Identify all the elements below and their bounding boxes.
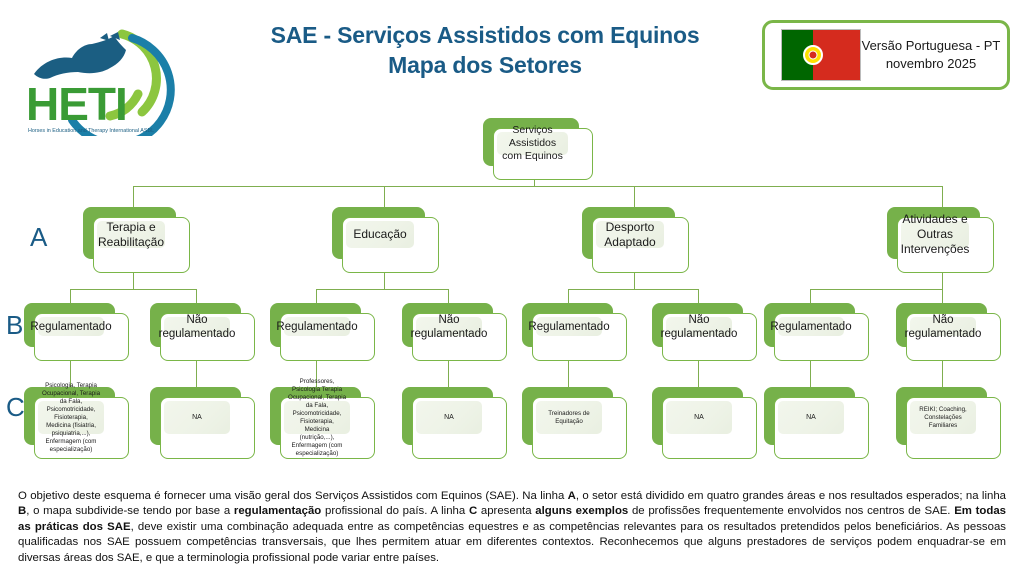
node-card: Terapia e Reabilitação (93, 217, 190, 273)
connector-b-drop-4b (942, 289, 943, 303)
node-label: Não regulamentado (666, 317, 732, 336)
node-card: Professores, Psicologia Terapia Ocupacio… (280, 397, 375, 459)
connector-a-drop-3 (634, 186, 635, 208)
version-badge: Versão Portuguesa - PT novembro 2025 (762, 20, 1010, 90)
node-card: NA (662, 397, 757, 459)
version-text: Versão Portuguesa - PT novembro 2025 (861, 37, 1007, 73)
svg-text:HETI: HETI (26, 78, 127, 130)
connector-c-drop-5 (568, 359, 569, 387)
node-a-atividades-outras-intervencoes[interactable]: Atividades e Outras Intervenções (887, 207, 994, 273)
connector-b-drop-1b (196, 289, 197, 303)
connector-b-stem-3 (634, 272, 635, 289)
version-line2: novembro 2025 (861, 55, 1001, 73)
portugal-flag-icon (781, 29, 861, 81)
node-card: REIKI; Coaching, Constelações Familiares (906, 397, 1001, 459)
connector-a-bus (133, 186, 943, 187)
connector-b-drop-4a (810, 289, 811, 303)
node-card: Atividades e Outras Intervenções (897, 217, 994, 273)
node-card: Não regulamentado (412, 313, 507, 361)
node-label: Regulamentado (284, 317, 350, 336)
node-card: Não regulamentado (906, 313, 1001, 361)
connector-c-drop-2 (196, 359, 197, 387)
node-c-na-3[interactable]: NA (652, 387, 757, 459)
node-label: REIKI; Coaching, Constelações Familiares (910, 401, 976, 434)
connector-b-stem-2 (384, 272, 385, 289)
node-card: NA (160, 397, 255, 459)
connector-b-drop-2a (316, 289, 317, 303)
node-c-na-4[interactable]: NA (764, 387, 869, 459)
footer-bold-regulamentacao: regulamentação (234, 505, 321, 517)
row-label-a: A (30, 222, 47, 253)
node-c-na-1[interactable]: NA (150, 387, 255, 459)
node-label: Terapia e Reabilitação (97, 221, 165, 248)
connector-c-drop-4 (448, 359, 449, 387)
node-card: Psicologia, Terapia Ocupacional, Terapia… (34, 397, 129, 459)
node-b-nao-regulamentado-4[interactable]: Não regulamentado (896, 303, 1001, 361)
slide-canvas: HETI Horses in Education and Therapy Int… (0, 0, 1024, 576)
node-label: NA (666, 401, 732, 434)
node-a-desporto-adaptado[interactable]: Desporto Adaptado (582, 207, 689, 273)
node-label: Regulamentado (536, 317, 602, 336)
node-b-regulamentado-4[interactable]: Regulamentado (764, 303, 869, 361)
node-c-treinadores-equitacao[interactable]: Treinadores de Equitação (522, 387, 627, 459)
node-label: Professores, Psicologia Terapia Ocupacio… (284, 401, 350, 434)
page-title-line1: SAE - Serviços Assistidos com Equinos (200, 20, 770, 50)
footer-seg-5: apresenta (477, 505, 535, 517)
node-c-na-2[interactable]: NA (402, 387, 507, 459)
node-card: Regulamentado (532, 313, 627, 361)
node-label: Serviços Assistidos com Equinos (497, 132, 568, 155)
node-a-terapia-reabilitacao[interactable]: Terapia e Reabilitação (83, 207, 190, 273)
footer-seg-4: profissional do país. A linha (321, 505, 469, 517)
node-label: NA (164, 401, 230, 434)
row-label-b: B (6, 310, 23, 341)
connector-a-drop-2 (384, 186, 385, 208)
connector-b-bus-4 (810, 289, 942, 290)
connector-b-drop-3a (568, 289, 569, 303)
row-label-c: C (6, 392, 25, 423)
node-card: Regulamentado (280, 313, 375, 361)
node-root[interactable]: Serviços Assistidos com Equinos (483, 118, 593, 180)
connector-b-drop-3b (698, 289, 699, 303)
node-card: Treinadores de Equitação (532, 397, 627, 459)
node-b-regulamentado-3[interactable]: Regulamentado (522, 303, 627, 361)
node-c-profissoes-2[interactable]: Professores, Psicologia Terapia Ocupacio… (270, 387, 375, 459)
node-card: NA (774, 397, 869, 459)
connector-b-bus-1 (70, 289, 196, 290)
svg-text:Horses in Education and Therap: Horses in Education and Therapy Internat… (28, 128, 154, 134)
page-title: SAE - Serviços Assistidos com Equinos Ma… (200, 20, 770, 80)
connector-c-drop-6 (698, 359, 699, 387)
node-card: NA (412, 397, 507, 459)
node-label: Desporto Adaptado (596, 221, 664, 248)
node-label: NA (416, 401, 482, 434)
connector-a-drop-1 (133, 186, 134, 208)
node-label: Não regulamentado (164, 317, 230, 336)
node-card: Não regulamentado (160, 313, 255, 361)
footer-seg-1: O objetivo deste esquema é fornecer uma … (18, 490, 568, 502)
node-b-nao-regulamentado-3[interactable]: Não regulamentado (652, 303, 757, 361)
node-b-regulamentado-1[interactable]: Regulamentado (24, 303, 129, 361)
connector-b-stem-4 (942, 272, 943, 289)
node-b-regulamentado-2[interactable]: Regulamentado (270, 303, 375, 361)
armillary-sphere-icon (803, 45, 823, 65)
node-label: NA (778, 401, 844, 434)
footer-bold-b: B (18, 505, 26, 517)
node-c-profissoes-1[interactable]: Psicologia, Terapia Ocupacional, Terapia… (24, 387, 129, 459)
node-label: Regulamentado (38, 317, 104, 336)
node-card: Não regulamentado (662, 313, 757, 361)
node-label: Educação (346, 221, 414, 248)
node-label: Atividades e Outras Intervenções (901, 221, 969, 248)
node-card: Regulamentado (34, 313, 129, 361)
node-card: Desporto Adaptado (592, 217, 689, 273)
footer-seg-7: , deve existir uma combinação adequada e… (18, 521, 1006, 564)
connector-b-bus-2 (316, 289, 448, 290)
heti-logo: HETI Horses in Education and Therapy Int… (14, 16, 204, 136)
footer-bold-a: A (568, 490, 576, 502)
node-label: Psicologia, Terapia Ocupacional, Terapia… (38, 401, 104, 434)
page-title-line2: Mapa dos Setores (200, 50, 770, 80)
version-line1: Versão Portuguesa - PT (861, 37, 1001, 55)
footer-description: O objetivo deste esquema é fornecer uma … (18, 489, 1006, 566)
connector-b-bus-3 (568, 289, 698, 290)
node-card: Serviços Assistidos com Equinos (493, 128, 593, 180)
node-label: Treinadores de Equitação (536, 401, 602, 434)
connector-c-drop-8 (942, 359, 943, 387)
node-label: Não regulamentado (416, 317, 482, 336)
footer-bold-alguns-exemplos: alguns exemplos (535, 505, 628, 517)
connector-b-stem-1 (133, 272, 134, 289)
node-a-educacao[interactable]: Educação (332, 207, 439, 273)
connector-c-drop-7 (810, 359, 811, 387)
node-label: Não regulamentado (910, 317, 976, 336)
footer-bold-c: C (469, 505, 477, 517)
node-card: Educação (342, 217, 439, 273)
node-b-nao-regulamentado-1[interactable]: Não regulamentado (150, 303, 255, 361)
footer-seg-6: de profissões frequentemente envolvidos … (628, 505, 954, 517)
connector-a-drop-4 (942, 186, 943, 208)
node-b-nao-regulamentado-2[interactable]: Não regulamentado (402, 303, 507, 361)
node-card: Regulamentado (774, 313, 869, 361)
connector-b-drop-2b (448, 289, 449, 303)
connector-b-drop-1a (70, 289, 71, 303)
node-c-reiki-coaching[interactable]: REIKI; Coaching, Constelações Familiares (896, 387, 1001, 459)
footer-seg-3: , o mapa subdivide-se tendo por base a (26, 505, 234, 517)
footer-seg-2: , o setor está dividido em quatro grande… (576, 490, 1006, 502)
node-label: Regulamentado (778, 317, 844, 336)
